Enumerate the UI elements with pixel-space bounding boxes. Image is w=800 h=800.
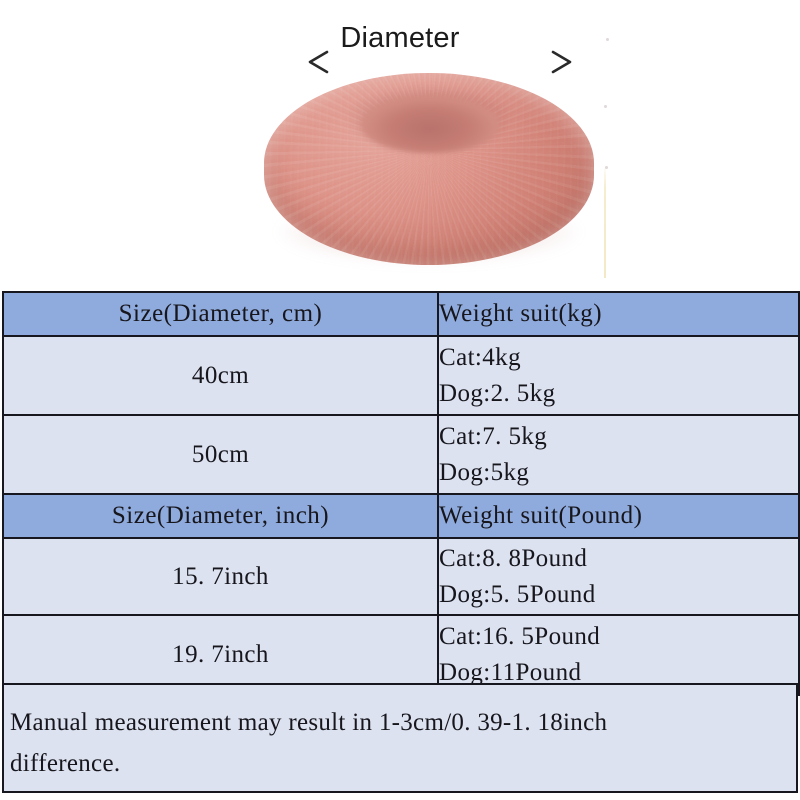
header-cell-weight-kg: Weight suit(kg)	[438, 292, 799, 336]
cell-weight-15-7inch: Cat:8. 8Pound Dog:5. 5Pound	[438, 538, 799, 615]
weight-line-cat: Cat:16. 5Pound	[439, 619, 798, 655]
weight-line-dog: Dog:5. 5Pound	[439, 577, 798, 613]
bed-cushion	[264, 73, 594, 265]
product-image-area: Diameter	[0, 0, 800, 291]
scan-artifact-dot	[606, 38, 609, 41]
cell-weight-50cm: Cat:7. 5kg Dog:5kg	[438, 415, 799, 494]
scan-artifact-line	[604, 168, 606, 278]
weight-line-dog: Dog:2. 5kg	[439, 376, 798, 412]
weight-line-cat: Cat:4kg	[439, 340, 798, 376]
table-header-row-cm: Size(Diameter, cm) Weight suit(kg)	[3, 292, 799, 336]
size-chart-page: Diameter	[0, 0, 800, 800]
measurement-note-box: Manual measurement may result in 1-3cm/0…	[2, 683, 798, 793]
bed-rim-highlight	[264, 73, 594, 265]
cell-weight-40cm: Cat:4kg Dog:2. 5kg	[438, 336, 799, 415]
table-row: 15. 7inch Cat:8. 8Pound Dog:5. 5Pound	[3, 538, 799, 615]
weight-line-cat: Cat:8. 8Pound	[439, 541, 798, 577]
double-headed-horizontal-arrow-icon	[305, 49, 575, 75]
scan-artifact-dot	[605, 166, 608, 169]
size-chart-table: Size(Diameter, cm) Weight suit(kg) 40cm …	[2, 291, 800, 696]
weight-line-dog: Dog:5kg	[439, 455, 798, 491]
cell-size-40cm: 40cm	[3, 336, 438, 415]
pet-bed-product-photo	[264, 73, 594, 273]
note-line-2: difference.	[10, 743, 790, 784]
header-cell-weight-pound: Weight suit(Pound)	[438, 494, 799, 538]
measurement-note-text: Manual measurement may result in 1-3cm/0…	[4, 685, 796, 784]
weight-line-cat: Cat:7. 5kg	[439, 419, 798, 455]
table-header-row-inch: Size(Diameter, inch) Weight suit(Pound)	[3, 494, 799, 538]
header-cell-size-inch: Size(Diameter, inch)	[3, 494, 438, 538]
cell-size-50cm: 50cm	[3, 415, 438, 494]
table-row: 40cm Cat:4kg Dog:2. 5kg	[3, 336, 799, 415]
note-line-1: Manual measurement may result in 1-3cm/0…	[10, 702, 790, 743]
cell-size-15-7inch: 15. 7inch	[3, 538, 438, 615]
scan-artifact-dot	[604, 105, 607, 108]
table-row: 50cm Cat:7. 5kg Dog:5kg	[3, 415, 799, 494]
header-cell-size-cm: Size(Diameter, cm)	[3, 292, 438, 336]
